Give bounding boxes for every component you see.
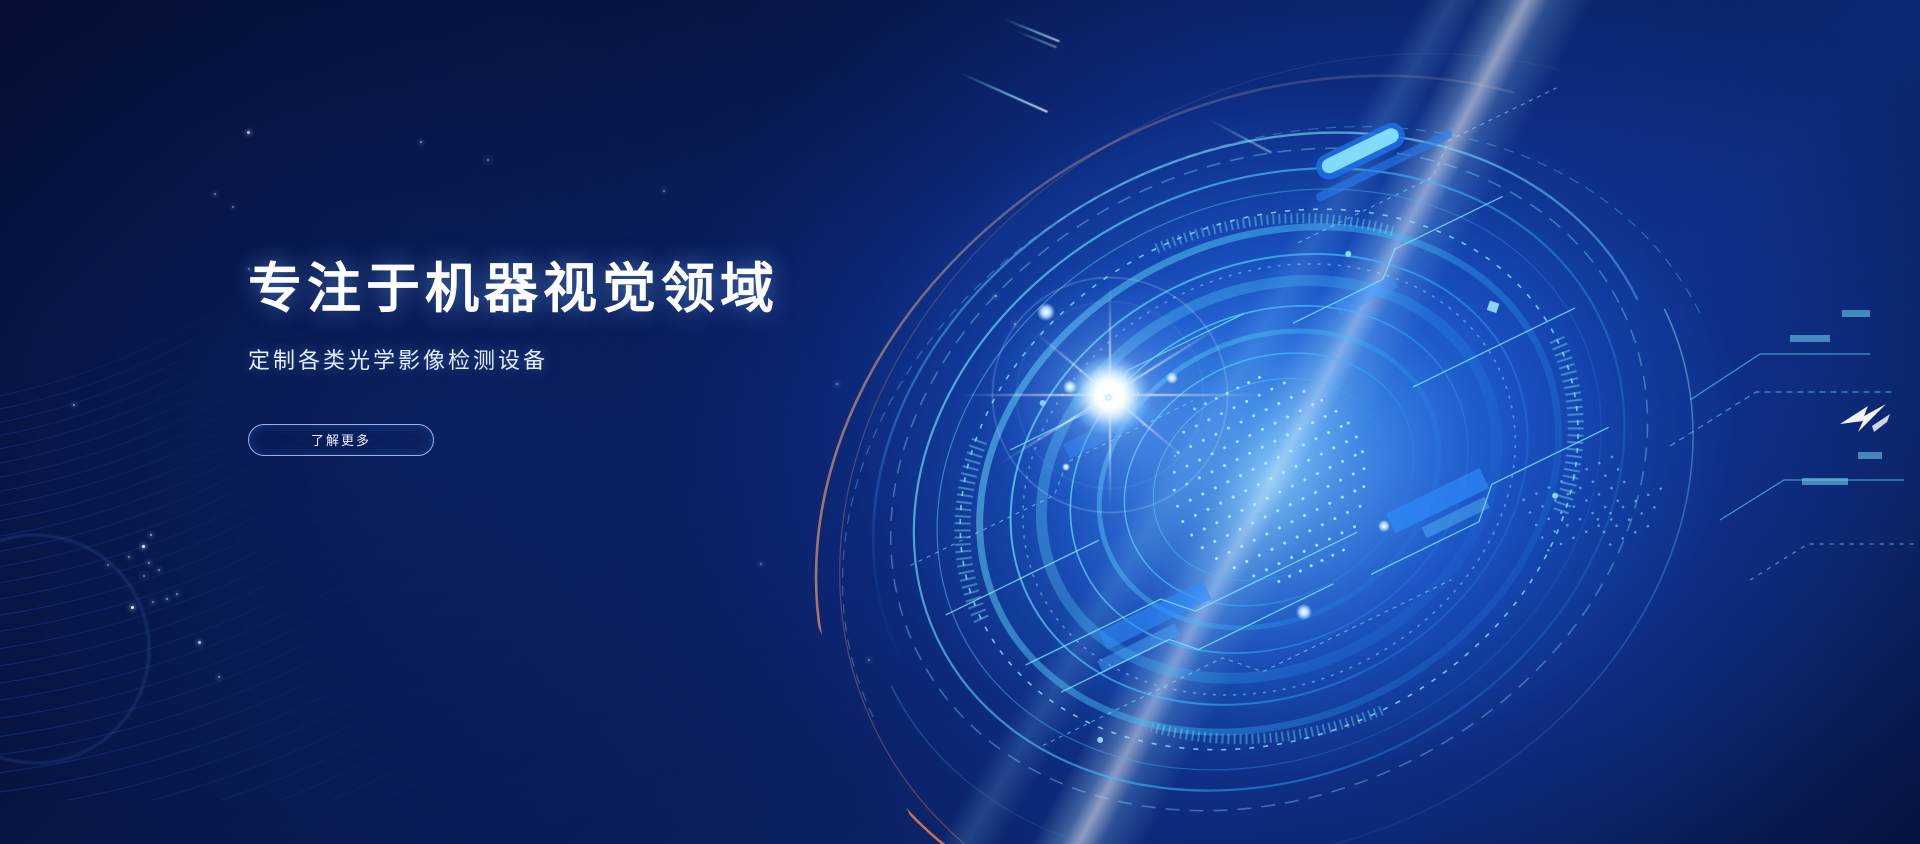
star-particle-icon xyxy=(247,131,250,134)
star-particle-icon xyxy=(143,575,145,577)
star-particle-icon xyxy=(166,598,168,600)
star-particle-icon xyxy=(420,141,422,143)
star-particle-icon xyxy=(150,534,152,536)
meteor-streak-icon xyxy=(960,72,1049,113)
star-particle-icon xyxy=(107,564,109,566)
star-particle-icon xyxy=(148,562,150,564)
star-particle-icon xyxy=(760,563,762,565)
star-particle-icon xyxy=(198,641,201,644)
star-particle-icon xyxy=(1137,392,1139,394)
star-particle-icon xyxy=(176,593,178,595)
star-particle-icon xyxy=(487,159,489,161)
light-burst-icon xyxy=(1010,295,1210,495)
star-particle-icon xyxy=(128,556,130,558)
decorative-arc xyxy=(0,534,150,764)
double-chevron-arrow-icon xyxy=(1838,402,1892,436)
star-particle-icon xyxy=(232,206,234,208)
glow-dot xyxy=(1063,380,1077,394)
star-particle-icon xyxy=(152,601,154,603)
glow-dot xyxy=(1037,303,1055,321)
hero-banner: 专注于机器视觉领域 定制各类光学影像检测设备 了解更多 xyxy=(0,0,1920,844)
meteor-streak-icon xyxy=(1208,118,1273,154)
star-particle-icon xyxy=(868,659,870,661)
star-particle-icon xyxy=(142,545,145,548)
glow-dot xyxy=(1378,520,1390,532)
hero-copy-block: 专注于机器视觉领域 定制各类光学影像检测设备 了解更多 xyxy=(248,258,1008,456)
star-particle-icon xyxy=(73,404,75,406)
glow-dot xyxy=(1166,372,1178,384)
glow-dot xyxy=(1104,393,1113,402)
page-title: 专注于机器视觉领域 xyxy=(248,258,1008,322)
star-particle-icon xyxy=(1014,323,1016,325)
star-particle-icon xyxy=(131,606,134,609)
page-subtitle: 定制各类光学影像检测设备 xyxy=(248,343,1008,375)
star-particle-icon xyxy=(158,569,160,571)
star-particle-icon xyxy=(214,193,216,195)
glow-dot xyxy=(1296,604,1312,620)
glow-dot xyxy=(1062,463,1070,471)
star-particle-icon xyxy=(663,190,665,192)
star-particle-icon xyxy=(218,676,220,678)
learn-more-button[interactable]: 了解更多 xyxy=(248,424,434,456)
star-particle-icon xyxy=(1174,455,1176,457)
